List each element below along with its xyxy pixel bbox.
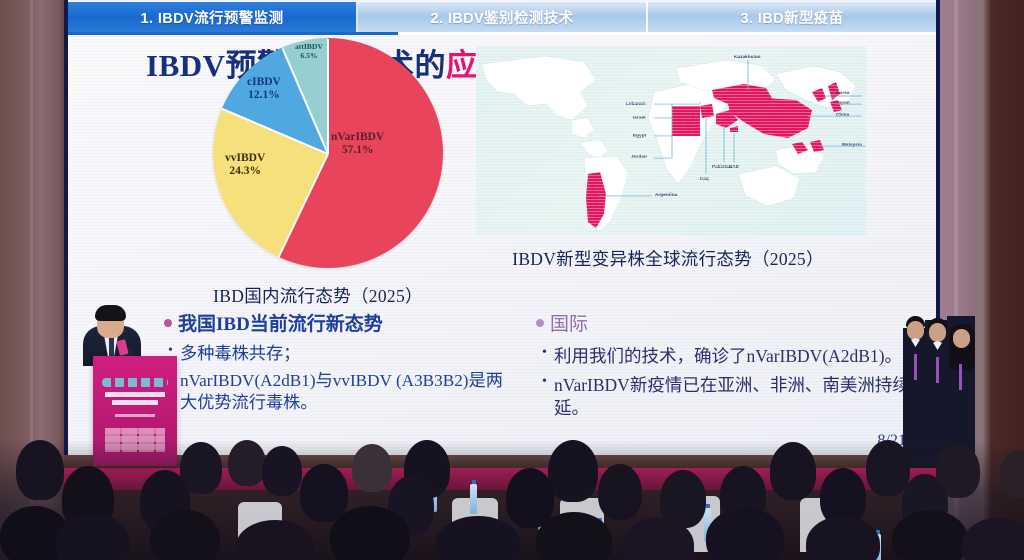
standing-person-lanyard <box>936 357 939 383</box>
tab-label: 1. IBDV流行预警监测 <box>141 7 284 28</box>
audience-head <box>706 508 784 560</box>
pie-label-name: vvIBDV <box>225 152 265 164</box>
map-label-japan: Japan <box>836 100 850 105</box>
pie-chart-caption: IBD国内流行态势（2025） <box>158 283 478 308</box>
pie-label-vvibdv: vvIBDV 24.3% <box>225 152 265 178</box>
right-bullet-1: 利用我们的技术，确诊了nVarIBDV(A2dB1)。 <box>536 345 936 368</box>
pie-label-attibdv: attIBDV 6.5% <box>295 43 323 60</box>
water-bottle <box>470 484 477 514</box>
audience-head <box>1000 450 1024 498</box>
map-label-malaysia: Malaysia <box>842 142 862 147</box>
right-bullet-2: nVarIBDV新疫情已在亚洲、非洲、南美洲持续蔓延。 <box>536 374 936 420</box>
podium-subtitle-line <box>115 414 155 417</box>
right-column-heading: 国际 <box>536 312 936 338</box>
audience-head <box>548 440 598 502</box>
map-label-kazakhstan: Kazakhstan <box>734 54 761 59</box>
pie-label-nvaribdv: nVarIBDV 57.1% <box>331 131 384 157</box>
map-label-china: China <box>836 112 849 117</box>
left-column-heading: 我国IBD当前流行新态势 <box>164 312 504 338</box>
standing-person-head <box>929 323 946 342</box>
projected-slide: 1. IBDV流行预警监测 2. IBDV鉴别检测技术 3. IBD新型疫苗 I… <box>68 0 936 466</box>
podium-logos <box>102 378 168 387</box>
audience-head <box>892 510 968 560</box>
audience-head <box>770 442 816 500</box>
standing-person-lanyard <box>959 364 962 390</box>
map-label-iraq: Iraq <box>700 176 709 181</box>
map-label-israel: Israel <box>633 115 646 120</box>
pie-label-name: cIBDV <box>247 76 281 88</box>
tab-label: 3. IBD新型疫苗 <box>740 7 843 28</box>
map-country-china <box>728 98 812 138</box>
tab-label: 2. IBDV鉴别检测技术 <box>431 7 574 28</box>
map-label-argentina: Argentina <box>655 192 677 197</box>
world-map-svg <box>476 46 866 236</box>
pie-label-value: 24.3% <box>225 165 265 178</box>
left-heading-label: 我国IBD当前流行新态势 <box>178 312 383 338</box>
map-label-egypt: Egypt <box>633 133 646 138</box>
standing-person-head <box>907 321 924 340</box>
world-map-caption: IBDV新型变异株全球流行态势（2025） <box>448 246 888 271</box>
map-country-middle-east-block <box>672 106 700 136</box>
map-country-uae <box>730 126 738 132</box>
audience-head <box>598 464 642 520</box>
audience-head <box>150 510 220 560</box>
conference-photo: 1. IBDV流行预警监测 2. IBDV鉴别检测技术 3. IBD新型疫苗 I… <box>0 0 1024 560</box>
tab-ibdv-detection[interactable]: 2. IBDV鉴别检测技术 <box>358 2 648 32</box>
map-country-iraq <box>700 104 714 118</box>
pie-chart-block: nVarIBDV 57.1% vvIBDV 24.3% cIBDV 12.1% … <box>158 38 478 288</box>
audience-head <box>16 440 64 500</box>
audience-head <box>300 464 348 522</box>
pie-label-value: 57.1% <box>331 144 384 157</box>
left-text-column: 我国IBD当前流行新态势 多种毒株共存； nVarIBDV(A2dB1)与vvI… <box>164 312 504 415</box>
world-map-block: Kazakhstan Korea Japan China Malaysia Pa… <box>448 46 888 296</box>
audience-head <box>330 506 410 560</box>
pie-label-value: 6.5% <box>295 52 323 61</box>
right-heading-label: 国际 <box>550 312 588 338</box>
standing-person-head <box>953 329 970 348</box>
podium-title-line-1 <box>105 392 165 397</box>
pie-label-name: attIBDV <box>295 42 323 51</box>
audience-head <box>262 446 302 496</box>
pie-chart: nVarIBDV 57.1% vvIBDV 24.3% cIBDV 12.1% … <box>213 38 443 268</box>
slide-section-tabs: 1. IBDV流行预警监测 2. IBDV鉴别检测技术 3. IBD新型疫苗 <box>68 2 936 32</box>
left-bullet-1: 多种毒株共存； <box>164 343 504 365</box>
map-label-lebanon: Lebanon <box>626 101 646 106</box>
pie-label-cibdv: cIBDV 12.1% <box>247 76 281 102</box>
world-map: Kazakhstan Korea Japan China Malaysia Pa… <box>476 46 866 236</box>
right-text-column: 国际 利用我们的技术，确诊了nVarIBDV(A2dB1)。 nVarIBDV新… <box>536 312 936 420</box>
pie-label-name: nVarIBDV <box>331 131 384 143</box>
tabbar-underline <box>68 32 936 35</box>
audience-head <box>866 440 910 496</box>
speaker-hair <box>95 305 126 321</box>
tab-ibd-vaccine[interactable]: 3. IBD新型疫苗 <box>648 2 936 32</box>
tab-ibdv-surveillance[interactable]: 1. IBDV流行预警监测 <box>68 2 358 32</box>
audience-head <box>228 440 266 486</box>
standing-person-lanyard <box>914 354 917 380</box>
map-label-uae: UAE <box>729 164 739 169</box>
map-label-jordan: Jordan <box>631 154 647 159</box>
bullet-dot-icon <box>164 319 172 327</box>
audience-foreground <box>0 440 1024 560</box>
bullet-dot-icon <box>536 319 544 327</box>
pie-separator <box>327 39 329 154</box>
audience-head <box>352 444 392 492</box>
map-label-korea: Korea <box>836 90 850 95</box>
pie-label-value: 12.1% <box>247 89 281 102</box>
left-bullet-2: nVarIBDV(A2dB1)与vvIBDV (A3B3B2)是两大优势流行毒株… <box>164 370 504 415</box>
podium-title-line-2 <box>112 400 158 405</box>
